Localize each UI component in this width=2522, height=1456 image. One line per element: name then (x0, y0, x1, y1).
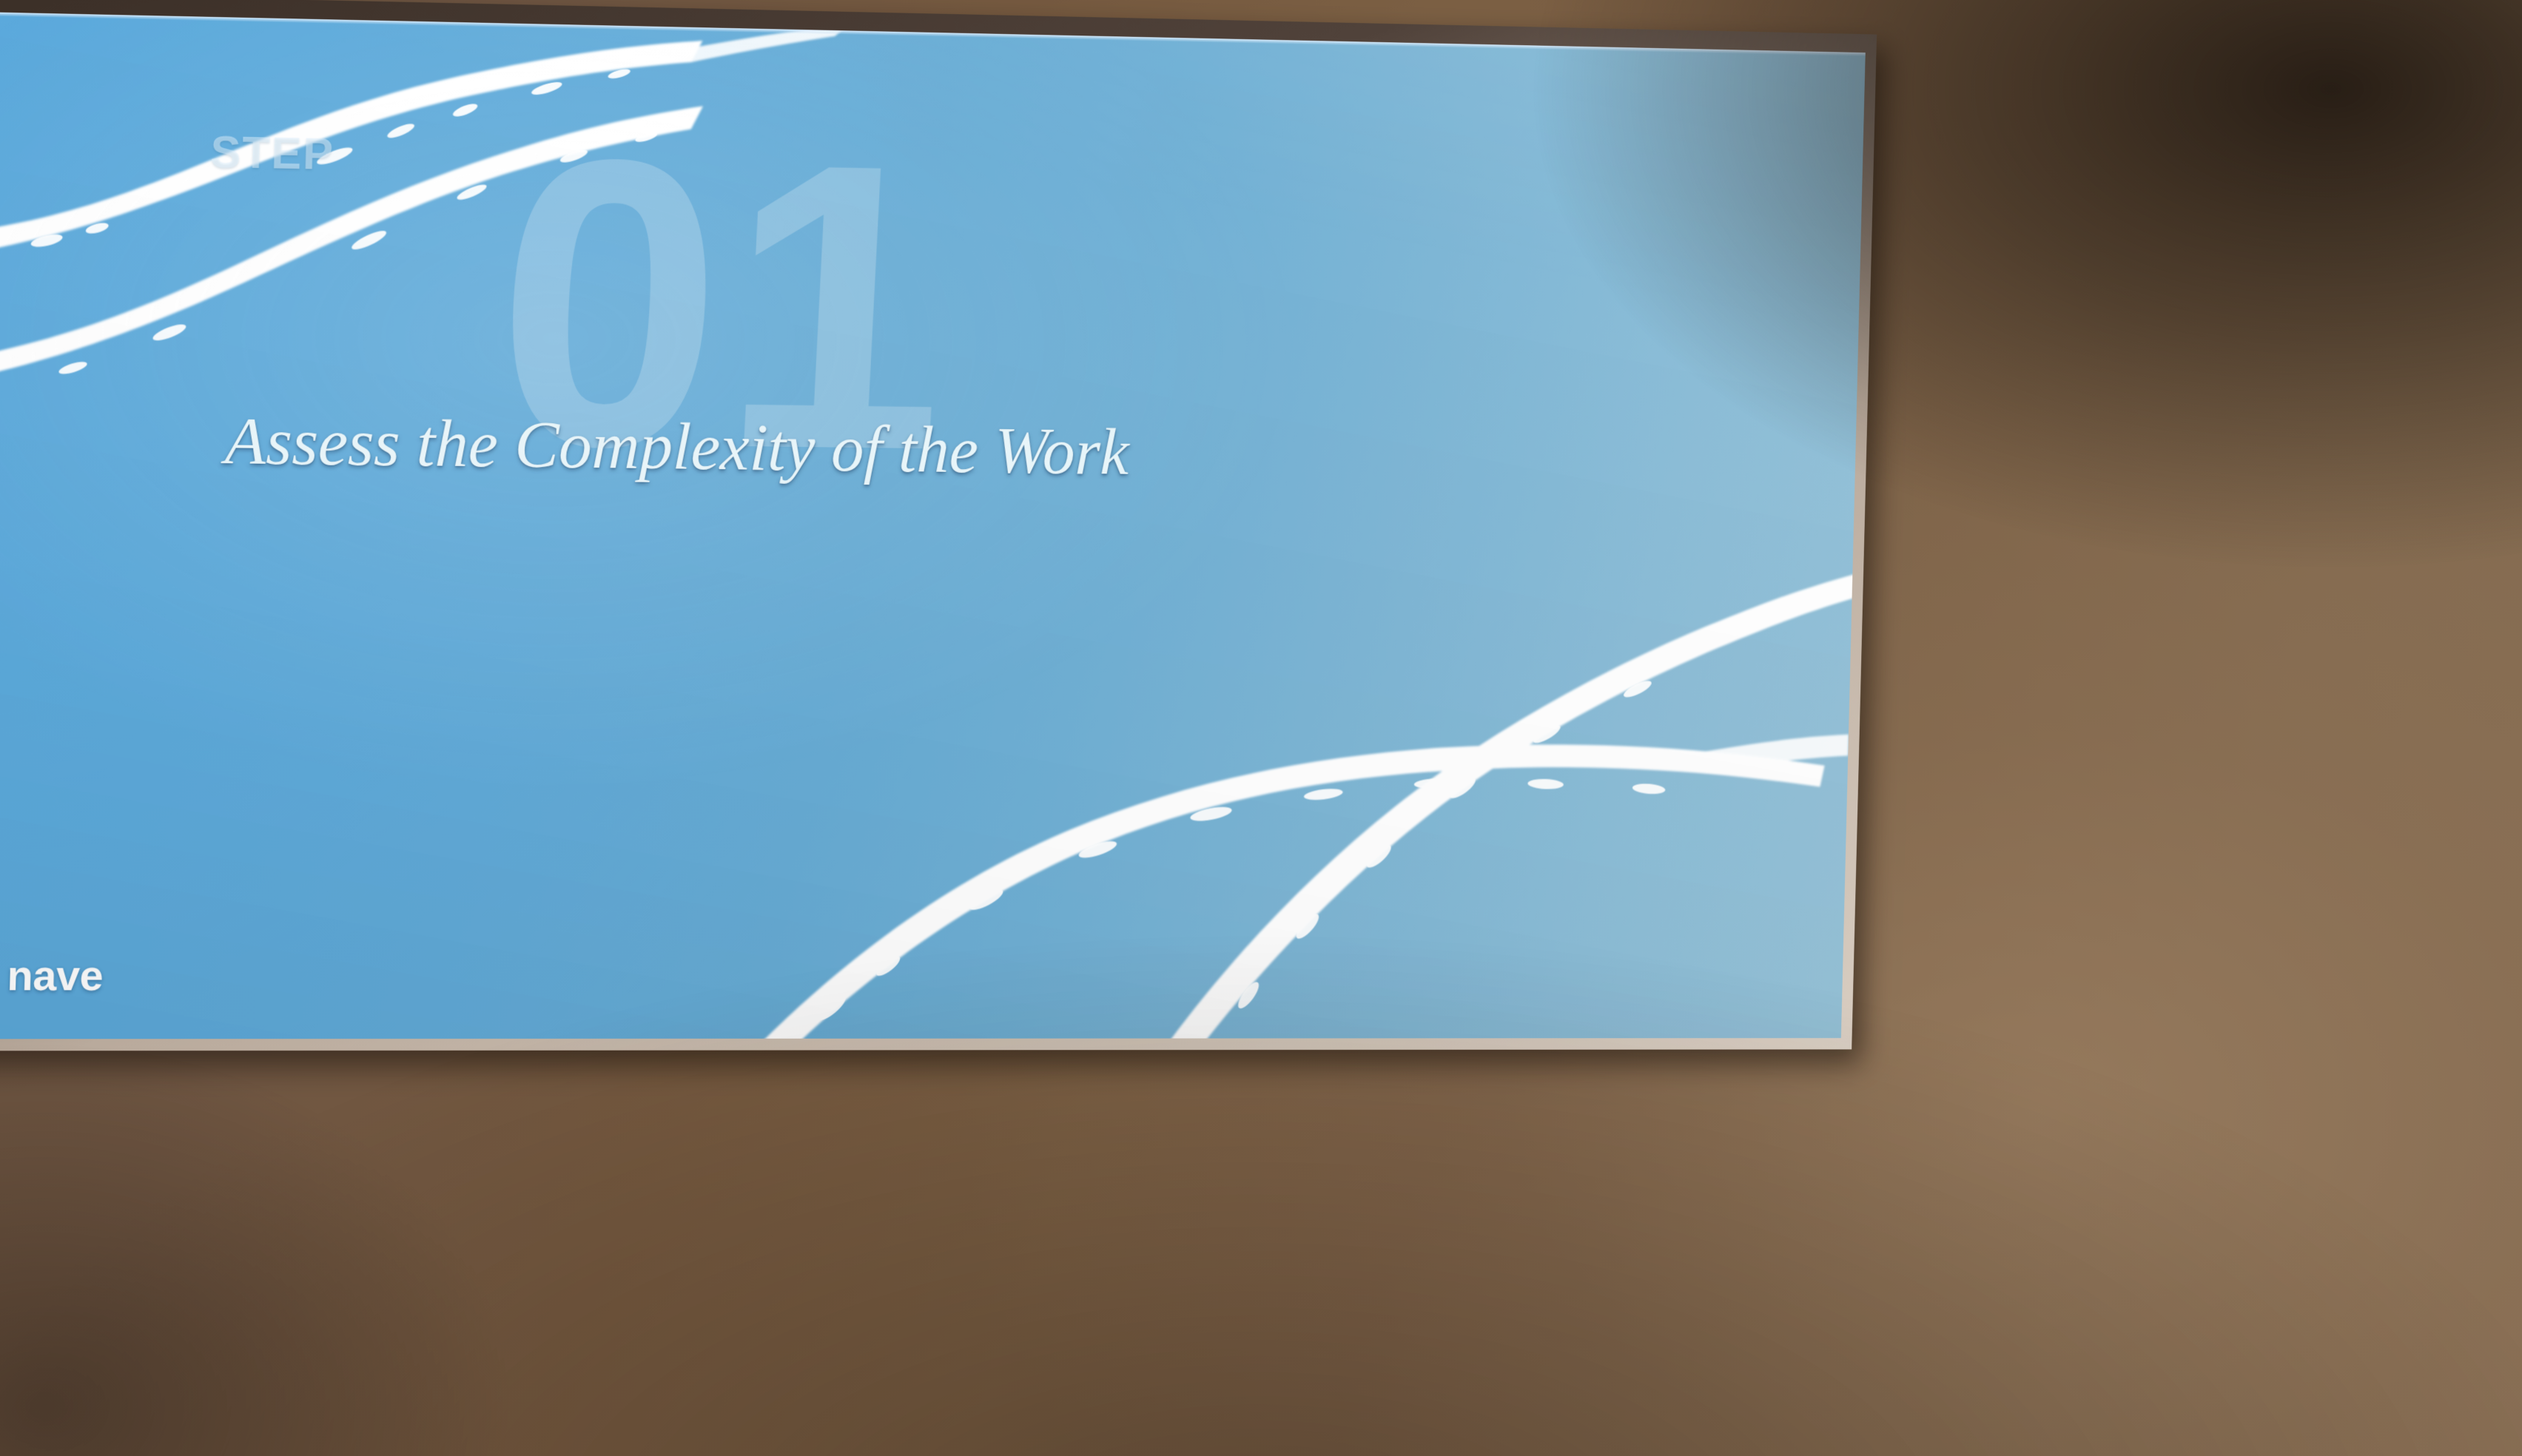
slide-title: Assess the Complexity of the Work (224, 404, 1130, 489)
brand-logo: nave (7, 951, 104, 1000)
photo-scene: 01 (0, 0, 2522, 1456)
presentation-slide: 01 (0, 12, 1866, 1039)
projection-screen: 01 (0, 0, 1877, 1051)
step-eyebrow-label: STEP (210, 126, 335, 181)
